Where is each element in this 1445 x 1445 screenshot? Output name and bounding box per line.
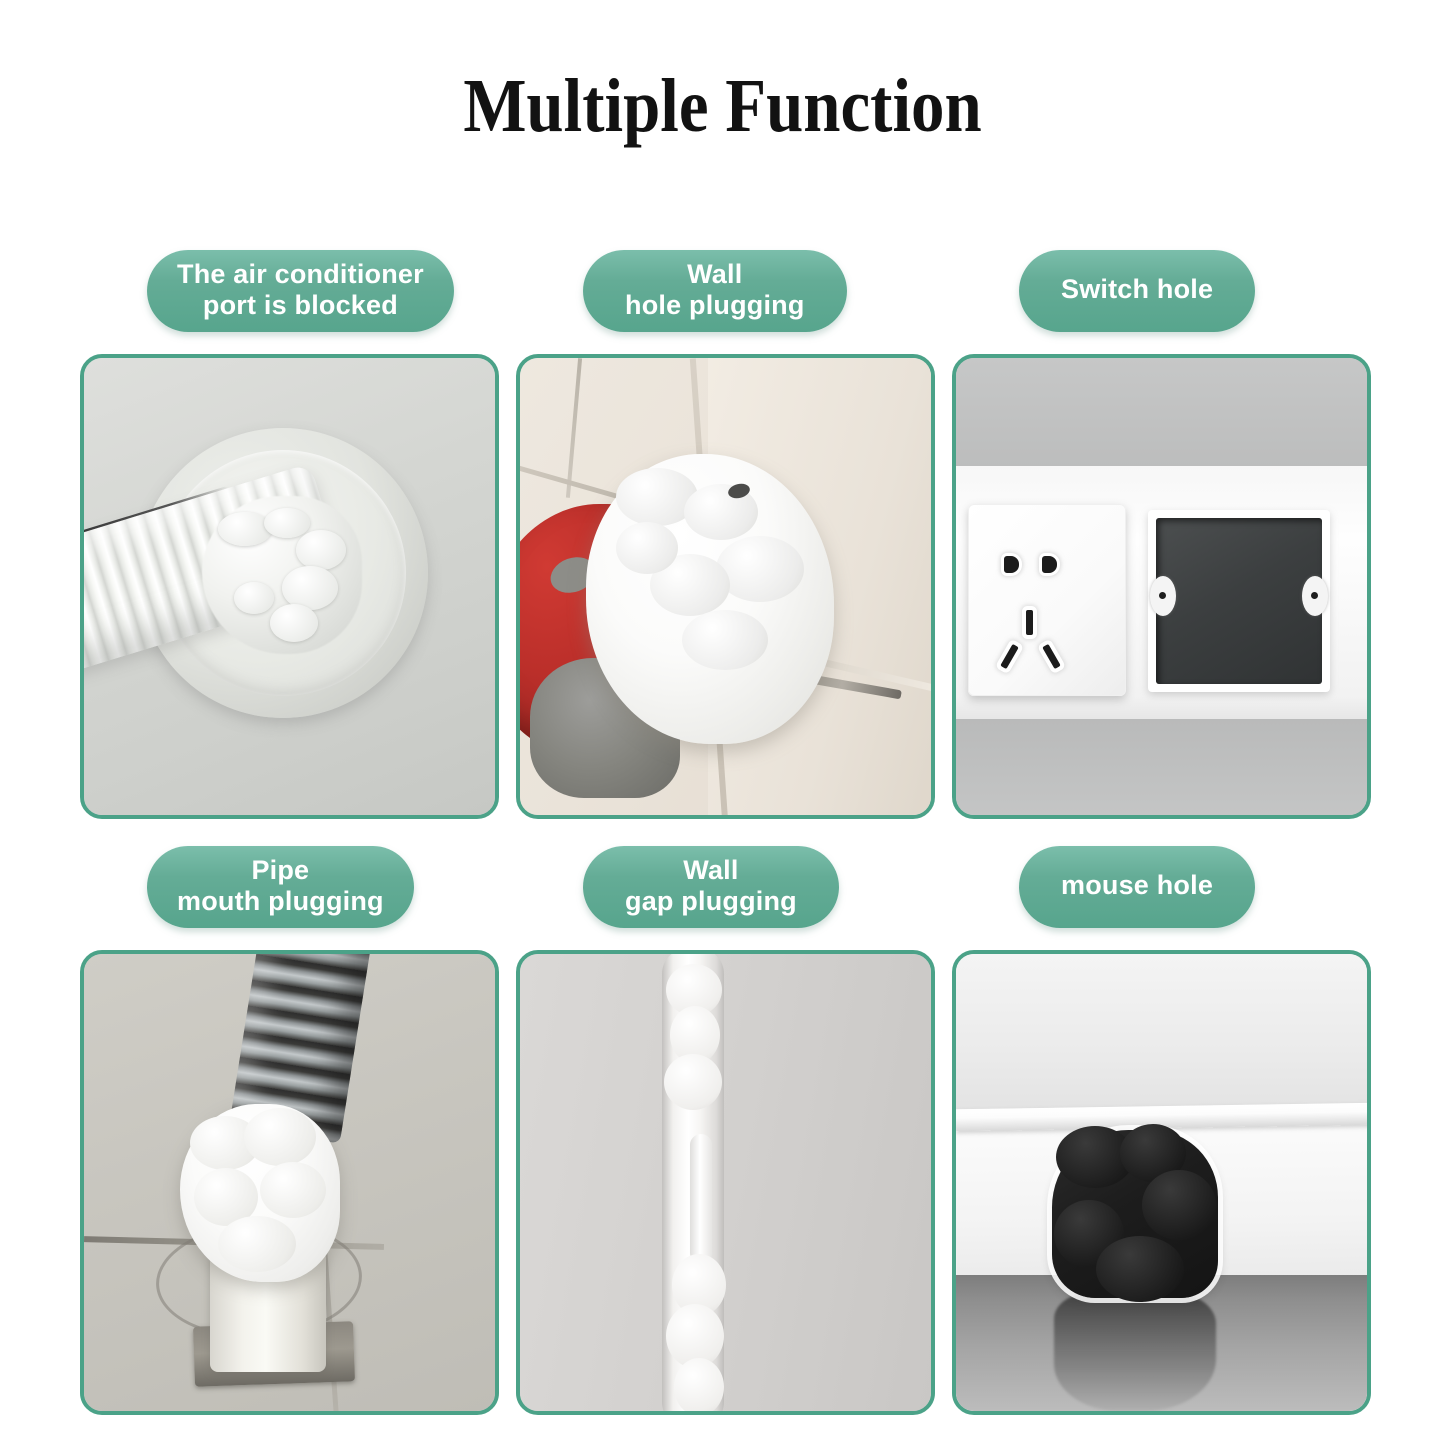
label-text: Wall gap plugging <box>625 855 797 918</box>
air-conditioner-port-photo <box>84 358 495 815</box>
label-pill-wall-hole: Wall hole plugging <box>583 250 847 332</box>
function-cell-pipe-mouth: Pipe mouth plugging <box>80 846 499 1415</box>
label-pill-switch-hole: Switch hole <box>1019 250 1255 332</box>
function-cell-air-conditioner-port: The air conditioner port is blocked <box>80 250 499 819</box>
photo-card-wall-gap[interactable] <box>516 950 935 1415</box>
label-container: Switch hole <box>952 250 1371 354</box>
wall-hole-photo <box>520 358 931 815</box>
function-grid: The air conditioner port is blocked <box>80 250 1370 1415</box>
photo-card-pipe-mouth[interactable] <box>80 950 499 1415</box>
label-container: mouse hole <box>952 846 1371 950</box>
grid-row-1: The air conditioner port is blocked <box>80 250 1370 819</box>
switch-hole-photo <box>956 358 1367 815</box>
label-container: The air conditioner port is blocked <box>80 250 499 354</box>
wall-gap-photo <box>520 954 931 1411</box>
grid-row-2: Pipe mouth plugging <box>80 846 1370 1415</box>
photo-card-switch-hole[interactable] <box>952 354 1371 819</box>
function-cell-mouse-hole: mouse hole <box>952 846 1371 1415</box>
label-pill-mouse-hole: mouse hole <box>1019 846 1255 928</box>
label-text: mouse hole <box>1061 870 1213 901</box>
label-pill-air-conditioner-port: The air conditioner port is blocked <box>147 250 454 332</box>
pipe-mouth-photo <box>84 954 495 1411</box>
function-cell-switch-hole: Switch hole <box>952 250 1371 819</box>
function-cell-wall-gap: Wall gap plugging <box>516 846 935 1415</box>
label-container: Wall gap plugging <box>516 846 935 950</box>
label-container: Pipe mouth plugging <box>80 846 499 950</box>
photo-card-air-conditioner-port[interactable] <box>80 354 499 819</box>
photo-card-wall-hole[interactable] <box>516 354 935 819</box>
label-text: Wall hole plugging <box>625 259 805 322</box>
photo-card-mouse-hole[interactable] <box>952 950 1371 1415</box>
label-text: The air conditioner port is blocked <box>177 259 424 322</box>
page-title: Multiple Function <box>87 68 1359 144</box>
label-pill-wall-gap: Wall gap plugging <box>583 846 839 928</box>
label-text: Pipe mouth plugging <box>177 855 384 918</box>
label-pill-pipe-mouth: Pipe mouth plugging <box>147 846 414 928</box>
mouse-hole-photo <box>956 954 1367 1411</box>
label-text: Switch hole <box>1061 274 1213 305</box>
function-cell-wall-hole: Wall hole plugging <box>516 250 935 819</box>
label-container: Wall hole plugging <box>516 250 935 354</box>
infographic-page: Multiple Function The air conditioner po… <box>0 0 1445 1445</box>
